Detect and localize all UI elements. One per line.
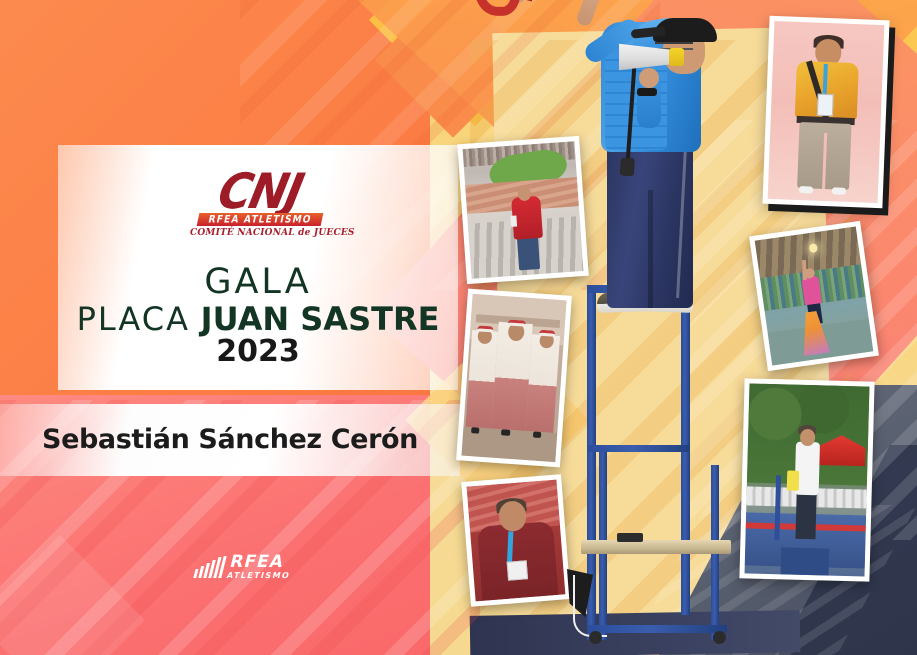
title-placa-award: JUAN SASTRE	[201, 300, 440, 338]
rfea-fan-icon	[193, 556, 228, 578]
cnj-logo: CNJ RFEA ATLETISMO COMITÉ NACIONAL de JU…	[190, 172, 330, 234]
rfea-footer-tagline: ATLETISMO	[226, 572, 291, 580]
figure-wristwatch	[637, 88, 657, 96]
cnj-logo-banner-text: RFEA ATLETISMO	[207, 214, 312, 226]
main-figure-starter	[545, 20, 795, 640]
honoree-name: Sebastián Sánchez Cerón	[0, 424, 460, 455]
title-gala: GALA	[58, 262, 458, 302]
title-placa-word: PLACA	[77, 300, 190, 338]
cnj-logo-subtitle: COMITÉ NACIONAL de JUECES	[190, 228, 330, 238]
figure-hand-lower	[639, 68, 659, 88]
award-poster: CNJ RFEA ATLETISMO COMITÉ NACIONAL de JU…	[0, 0, 917, 655]
starter-platform	[565, 285, 725, 640]
title-placa: PLACA JUAN SASTRE	[58, 300, 458, 338]
rfea-footer-logo: RFEA ATLETISMO	[196, 550, 316, 584]
figure-cap	[653, 18, 717, 42]
megaphone-mouthpiece	[669, 48, 684, 66]
cnj-logo-acronym: CNJ	[185, 170, 334, 213]
rfea-footer-text: RFEA ATLETISMO	[226, 554, 296, 580]
title-year: 2023	[58, 334, 458, 369]
cnj-logo-banner: RFEA ATLETISMO	[197, 213, 324, 226]
rfea-footer-name: RFEA	[228, 554, 295, 571]
